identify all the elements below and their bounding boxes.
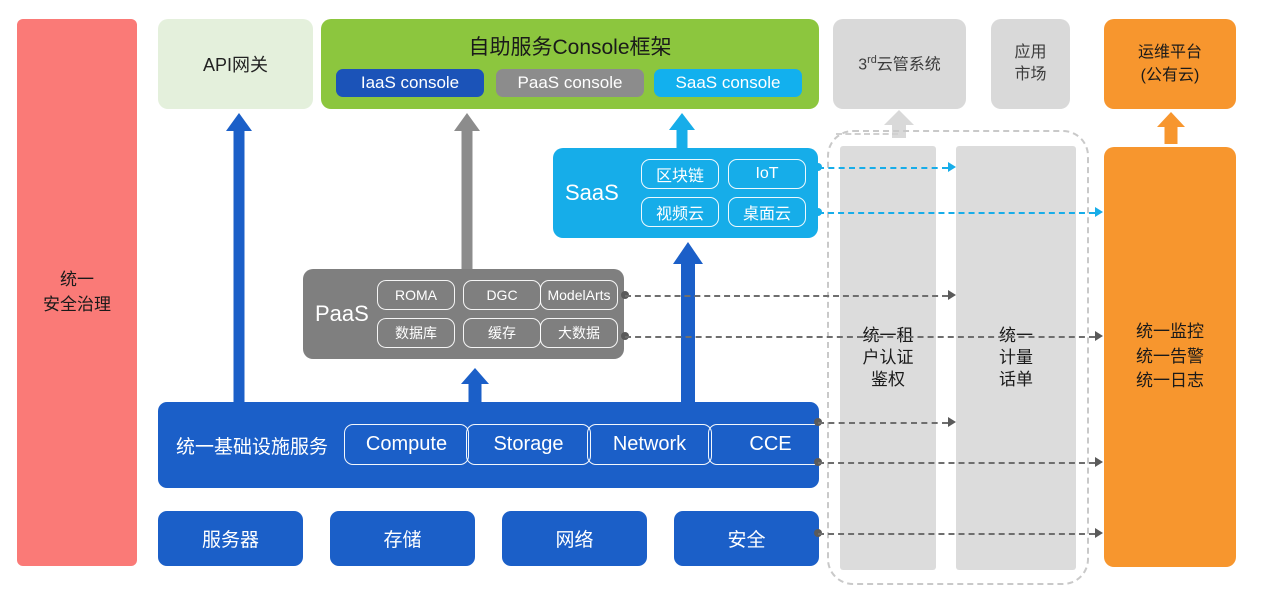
saas-item-blockchain-label: 区块链 xyxy=(656,162,704,186)
app-market-line-1: 应用 xyxy=(1014,42,1046,64)
iaas-item-network-label: Network xyxy=(613,433,686,456)
arrow-paas-to-console xyxy=(452,113,482,270)
iaas-item-compute-label: Compute xyxy=(366,433,447,456)
iaas-item-compute[interactable]: Compute xyxy=(344,424,469,465)
saas-item-iot[interactable]: IoT xyxy=(728,159,806,189)
saas-item-video-cloud-label: 视频云 xyxy=(656,200,704,224)
paas-group-label: PaaS xyxy=(315,269,369,359)
iaas-console-chip[interactable]: IaaS console xyxy=(336,69,484,97)
arrowhead-iaas-to-monitoring xyxy=(1095,457,1103,467)
connector-saas-to-auth xyxy=(818,167,948,169)
hardware-item-network-label: 网络 xyxy=(555,525,593,552)
paas-item-bigdata[interactable]: 大数据 xyxy=(540,318,618,348)
third-party-cloud-mgmt-box[interactable]: 3rd云管系统 xyxy=(833,19,966,109)
auth-line-3: 鉴权 xyxy=(863,369,914,391)
iaas-item-storage[interactable]: Storage xyxy=(466,424,591,465)
connector-paas-to-monitoring xyxy=(625,336,1095,338)
iaas-infrastructure-bar: 统一基础设施服务 Compute Storage Network CCE xyxy=(158,402,819,488)
saas-console-label: SaaS console xyxy=(676,73,781,93)
paas-item-roma-label: ROMA xyxy=(395,287,437,303)
paas-item-dgc[interactable]: DGC xyxy=(463,280,541,310)
iaas-bar-label: 统一基础设施服务 xyxy=(176,402,328,488)
arrow-iaas-to-saas xyxy=(672,242,704,405)
arrow-to-ops-platform xyxy=(1154,112,1188,144)
paas-item-bigdata-label: 大数据 xyxy=(558,323,600,343)
monitoring-line-2: 统一告警 xyxy=(1136,345,1204,370)
api-gateway-label: API网关 xyxy=(203,51,268,77)
hardware-item-network[interactable]: 网络 xyxy=(502,511,647,566)
hardware-item-server[interactable]: 服务器 xyxy=(158,511,303,566)
app-market-box[interactable]: 应用 市场 xyxy=(991,19,1070,109)
paas-group: PaaS ROMA DGC ModelArts 数据库 缓存 大数据 xyxy=(303,269,624,359)
connector-to-third-party-cloud xyxy=(836,133,898,135)
iaas-console-label: IaaS console xyxy=(361,73,459,93)
meter-line-2: 计量 xyxy=(999,347,1033,369)
iaas-item-storage-label: Storage xyxy=(493,433,563,456)
iaas-item-network[interactable]: Network xyxy=(587,424,712,465)
saas-item-video-cloud[interactable]: 视频云 xyxy=(641,197,719,227)
arrow-iaas-to-api-gateway xyxy=(224,113,254,405)
third-party-label: 3rd云管系统 xyxy=(858,53,941,76)
paas-item-modelarts-label: ModelArts xyxy=(547,287,610,303)
hardware-item-security-label: 安全 xyxy=(727,525,765,552)
arrowhead-saas-to-auth xyxy=(948,162,956,172)
monitoring-line-1: 统一监控 xyxy=(1136,320,1204,345)
connector-hardware-to-monitoring xyxy=(818,533,1095,535)
console-title: 自助服务Console框架 xyxy=(321,31,819,61)
hardware-item-security[interactable]: 安全 xyxy=(674,511,819,566)
connector-iaas-to-monitoring xyxy=(818,462,1095,464)
third-party-sup: rd xyxy=(867,54,877,66)
arrowhead-saas-to-monitoring xyxy=(1095,207,1103,217)
app-market-line-2: 市场 xyxy=(1014,64,1046,86)
saas-group: SaaS 区块链 IoT 视频云 桌面云 xyxy=(553,148,818,238)
arrowhead-iaas-to-auth xyxy=(948,417,956,427)
paas-item-cache[interactable]: 缓存 xyxy=(463,318,541,348)
saas-item-desktop-cloud[interactable]: 桌面云 xyxy=(728,197,806,227)
ops-platform-line-2: (公有云) xyxy=(1138,64,1202,87)
ops-platform-line-1: 运维平台 xyxy=(1138,41,1202,64)
paas-item-cache-label: 缓存 xyxy=(488,323,516,343)
arrowhead-paas-to-monitoring xyxy=(1095,331,1103,341)
security-line-1: 统一 xyxy=(43,268,111,293)
saas-item-iot-label: IoT xyxy=(755,165,778,183)
connector-paas-to-auth xyxy=(625,295,948,297)
hardware-item-storage[interactable]: 存储 xyxy=(330,511,475,566)
arrowhead-paas-to-auth xyxy=(948,290,956,300)
saas-item-blockchain[interactable]: 区块链 xyxy=(641,159,719,189)
arrow-saas-to-console xyxy=(667,113,697,151)
hardware-item-storage-label: 存储 xyxy=(383,525,421,552)
unified-tenant-auth-column[interactable]: 统一租 户认证 鉴权 xyxy=(840,146,936,570)
third-party-suffix: 云管系统 xyxy=(877,56,941,73)
console-framework-panel: 自助服务Console框架 IaaS console PaaS console … xyxy=(321,19,819,109)
paas-item-roma[interactable]: ROMA xyxy=(377,280,455,310)
paas-console-label: PaaS console xyxy=(518,73,623,93)
paas-item-database[interactable]: 数据库 xyxy=(377,318,455,348)
auth-line-2: 户认证 xyxy=(863,347,914,369)
monitoring-line-3: 统一日志 xyxy=(1136,369,1204,394)
paas-item-modelarts[interactable]: ModelArts xyxy=(540,280,618,310)
security-line-2: 安全治理 xyxy=(43,293,111,318)
iaas-item-cce-label: CCE xyxy=(749,433,791,456)
saas-item-desktop-cloud-label: 桌面云 xyxy=(743,200,791,224)
arrow-iaas-to-paas xyxy=(460,368,490,405)
saas-console-chip[interactable]: SaaS console xyxy=(654,69,802,97)
connector-iaas-to-auth xyxy=(818,422,948,424)
hardware-item-server-label: 服务器 xyxy=(202,525,259,552)
paas-item-dgc-label: DGC xyxy=(486,287,517,303)
architecture-diagram: 统一 安全治理 API网关 自助服务Console框架 IaaS console… xyxy=(0,0,1265,605)
security-governance-panel: 统一 安全治理 xyxy=(17,19,137,566)
meter-line-3: 话单 xyxy=(999,369,1033,391)
ops-platform-box[interactable]: 运维平台 (公有云) xyxy=(1104,19,1236,109)
unified-monitoring-panel: 统一监控 统一告警 统一日志 xyxy=(1104,147,1236,567)
paas-item-database-label: 数据库 xyxy=(395,323,437,343)
saas-group-label: SaaS xyxy=(565,148,619,238)
api-gateway-box[interactable]: API网关 xyxy=(158,19,313,109)
paas-console-chip[interactable]: PaaS console xyxy=(496,69,644,97)
third-party-prefix: 3 xyxy=(858,56,867,73)
unified-metering-column[interactable]: 统一 计量 话单 xyxy=(956,146,1076,570)
arrowhead-hardware-to-monitoring xyxy=(1095,528,1103,538)
connector-saas-to-monitoring xyxy=(818,212,1095,214)
